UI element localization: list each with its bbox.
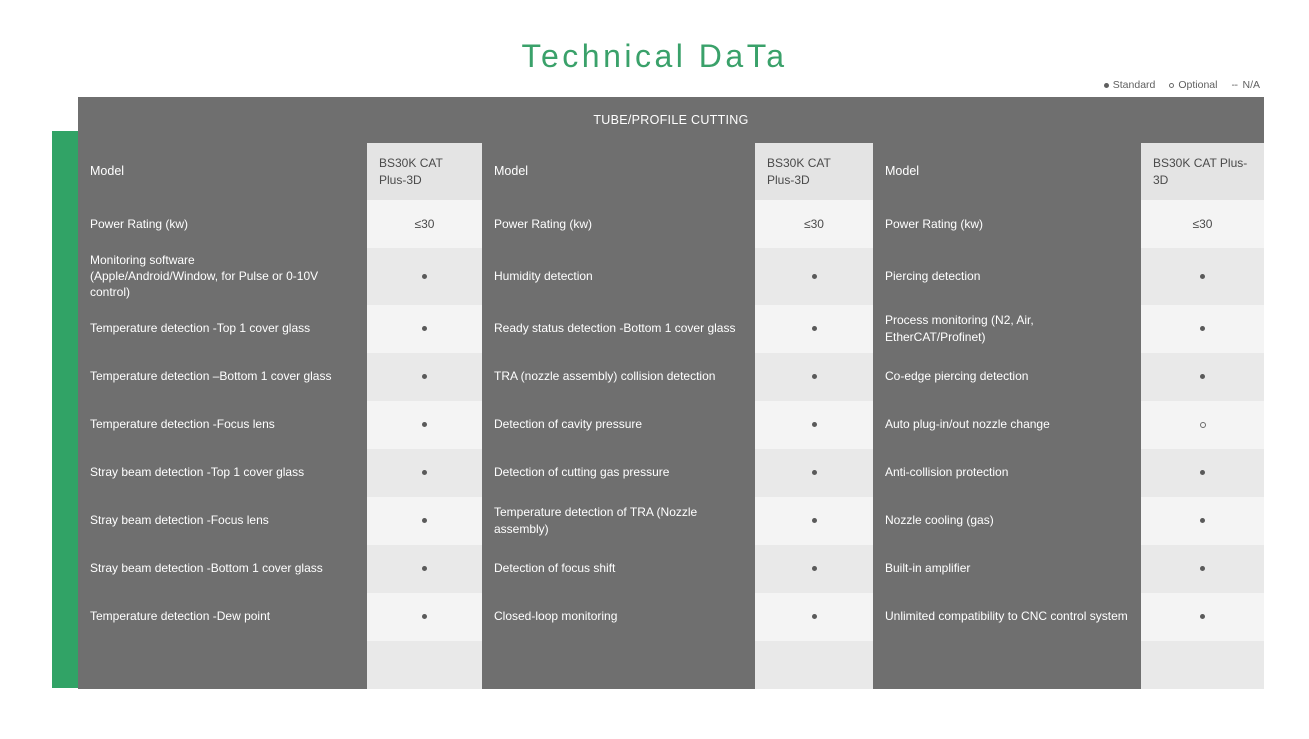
row-label-col3: Anti-collision protection [873, 449, 1141, 497]
row-value-col3 [1141, 353, 1264, 401]
table-header-row: Model BS30K CAT Plus-3D Model BS30K CAT … [78, 143, 1264, 200]
row-label-col3: Built-in amplifier [873, 545, 1141, 593]
filled-circle-icon [812, 422, 817, 427]
filled-circle-icon [812, 326, 817, 331]
filled-circle-icon [422, 614, 427, 619]
row-value-col1 [367, 248, 482, 305]
row-label-col1: Temperature detection -Top 1 cover glass [78, 305, 367, 353]
row-label-col2: Detection of cutting gas pressure [482, 449, 755, 497]
filled-circle-icon [1200, 470, 1205, 475]
row-label-col1: Power Rating (kw) [78, 200, 367, 248]
filled-circle-icon [1200, 326, 1205, 331]
row-value-col2 [755, 401, 873, 449]
filled-circle-icon [1200, 614, 1205, 619]
row-value-col2 [755, 248, 873, 305]
row-value-col2 [755, 545, 873, 593]
row-label-col3: Power Rating (kw) [873, 200, 1141, 248]
row-label-col3: Piercing detection [873, 248, 1141, 305]
table-row: Monitoring software (Apple/Android/Windo… [78, 248, 1264, 305]
filled-circle-icon [1200, 518, 1205, 523]
row-value-col3 [1141, 497, 1264, 545]
legend-label-optional: Optional [1178, 79, 1217, 91]
row-label-col3: Nozzle cooling (gas) [873, 497, 1141, 545]
header-value-1: BS30K CAT Plus-3D [367, 143, 482, 200]
table-body: Power Rating (kw)≤30Power Rating (kw)≤30… [78, 200, 1264, 689]
row-label-col2: Closed-loop monitoring [482, 593, 755, 641]
filled-circle-icon [1200, 274, 1205, 279]
table-row: Temperature detection –Bottom 1 cover gl… [78, 353, 1264, 401]
accent-bar-vertical [52, 131, 80, 676]
filled-circle-icon [1200, 374, 1205, 379]
row-label-col3: Co-edge piercing detection [873, 353, 1141, 401]
row-value-col1 [367, 305, 482, 353]
row-label-col2 [482, 641, 755, 689]
filled-circle-icon [422, 518, 427, 523]
filled-circle-icon [1104, 83, 1109, 88]
row-value-col1: ≤30 [367, 200, 482, 248]
row-value-col2 [755, 641, 873, 689]
row-label-col2: Detection of cavity pressure [482, 401, 755, 449]
row-value-col1 [367, 497, 482, 545]
row-value-col2 [755, 449, 873, 497]
row-label-col2: TRA (nozzle assembly) collision detectio… [482, 353, 755, 401]
row-label-col3: Auto plug-in/out nozzle change [873, 401, 1141, 449]
legend-label-na: N/A [1242, 79, 1260, 91]
header-label-1: Model [78, 143, 367, 200]
open-circle-icon [1169, 83, 1174, 88]
filled-circle-icon [422, 274, 427, 279]
table-row: Stray beam detection -Focus lensTemperat… [78, 497, 1264, 545]
row-label-col1: Stray beam detection -Bottom 1 cover gla… [78, 545, 367, 593]
table-row: Stray beam detection -Top 1 cover glassD… [78, 449, 1264, 497]
header-value-2: BS30K CAT Plus-3D [755, 143, 873, 200]
specification-table: TUBE/PROFILE CUTTING Model BS30K CAT Plu… [78, 97, 1264, 676]
open-circle-icon [1200, 422, 1206, 428]
filled-circle-icon [812, 518, 817, 523]
legend: Standard Optional -- N/A [1104, 79, 1260, 91]
filled-circle-icon [422, 374, 427, 379]
row-value-col3 [1141, 545, 1264, 593]
row-label-col3 [873, 641, 1141, 689]
row-label-col3: Unlimited compatibility to CNC control s… [873, 593, 1141, 641]
table-row [78, 641, 1264, 689]
table-row: Temperature detection -Focus lensDetecti… [78, 401, 1264, 449]
dash-icon: -- [1231, 79, 1237, 91]
header-label-2: Model [482, 143, 755, 200]
row-value-col3 [1141, 593, 1264, 641]
legend-item-standard: Standard [1104, 79, 1156, 91]
row-label-col3: Process monitoring (N2, Air, EtherCAT/Pr… [873, 305, 1141, 353]
row-value-col2 [755, 497, 873, 545]
table-row: Temperature detection -Top 1 cover glass… [78, 305, 1264, 353]
row-value-col1 [367, 545, 482, 593]
header-value-3: BS30K CAT Plus-3D [1141, 143, 1264, 200]
filled-circle-icon [812, 374, 817, 379]
filled-circle-icon [1200, 566, 1205, 571]
row-value-col3 [1141, 401, 1264, 449]
row-label-col2: Temperature detection of TRA (Nozzle ass… [482, 497, 755, 545]
row-label-col1 [78, 641, 367, 689]
row-value-col3: ≤30 [1141, 200, 1264, 248]
row-value-col2 [755, 593, 873, 641]
table-banner: TUBE/PROFILE CUTTING [78, 97, 1264, 143]
filled-circle-icon [422, 326, 427, 331]
row-label-col1: Temperature detection –Bottom 1 cover gl… [78, 353, 367, 401]
row-label-col2: Detection of focus shift [482, 545, 755, 593]
row-value-col1 [367, 449, 482, 497]
row-value-col3 [1141, 449, 1264, 497]
row-label-col2: Power Rating (kw) [482, 200, 755, 248]
filled-circle-icon [812, 614, 817, 619]
filled-circle-icon [422, 470, 427, 475]
table-row: Temperature detection -Dew pointClosed-l… [78, 593, 1264, 641]
table-row: Stray beam detection -Bottom 1 cover gla… [78, 545, 1264, 593]
table-row: Power Rating (kw)≤30Power Rating (kw)≤30… [78, 200, 1264, 248]
row-value-col1 [367, 401, 482, 449]
header-label-3: Model [873, 143, 1141, 200]
row-label-col2: Humidity detection [482, 248, 755, 305]
row-value-col2: ≤30 [755, 200, 873, 248]
row-label-col1: Monitoring software (Apple/Android/Windo… [78, 248, 367, 305]
row-label-col1: Stray beam detection -Top 1 cover glass [78, 449, 367, 497]
row-label-col1: Temperature detection -Dew point [78, 593, 367, 641]
row-value-col1 [367, 593, 482, 641]
row-label-col2: Ready status detection -Bottom 1 cover g… [482, 305, 755, 353]
filled-circle-icon [812, 274, 817, 279]
legend-label-standard: Standard [1113, 79, 1156, 91]
row-value-col2 [755, 353, 873, 401]
row-value-col3 [1141, 248, 1264, 305]
legend-item-optional: Optional [1169, 79, 1217, 91]
row-value-col3 [1141, 641, 1264, 689]
row-value-col2 [755, 305, 873, 353]
row-label-col1: Stray beam detection -Focus lens [78, 497, 367, 545]
legend-item-na: -- N/A [1231, 79, 1260, 91]
filled-circle-icon [812, 470, 817, 475]
filled-circle-icon [812, 566, 817, 571]
filled-circle-icon [422, 566, 427, 571]
row-value-col1 [367, 353, 482, 401]
row-value-col3 [1141, 305, 1264, 353]
page-title: Technical DaTa [0, 38, 1309, 75]
row-value-col1 [367, 641, 482, 689]
filled-circle-icon [422, 422, 427, 427]
row-label-col1: Temperature detection -Focus lens [78, 401, 367, 449]
